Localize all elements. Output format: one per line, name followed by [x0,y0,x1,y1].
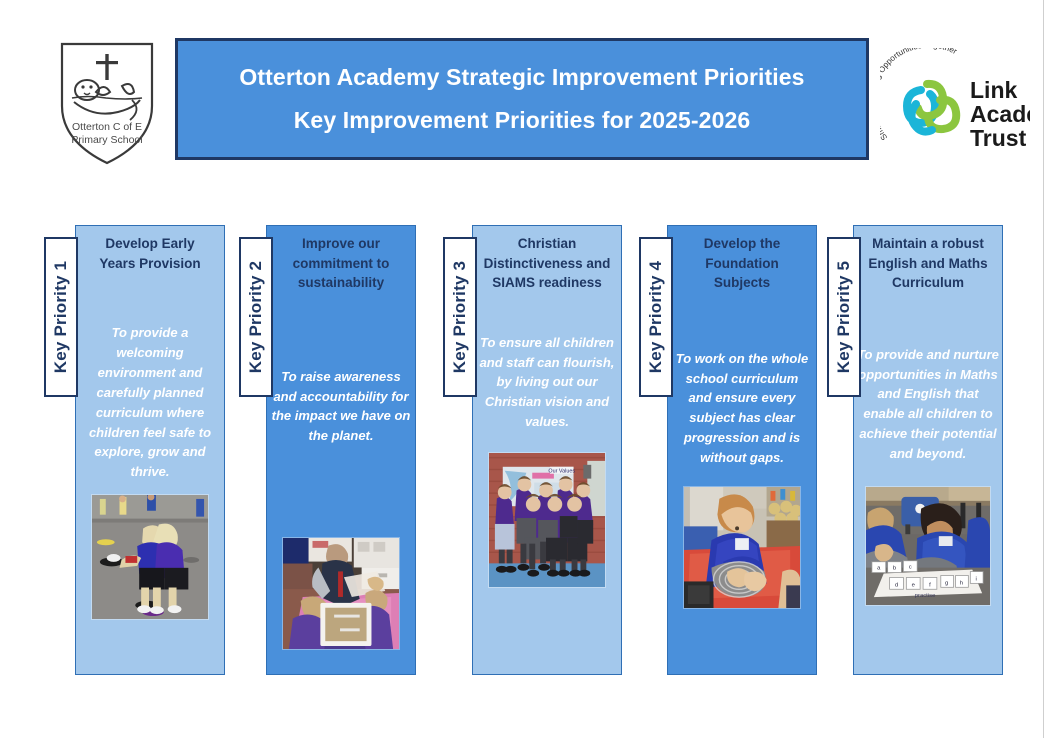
priority-2-body: To raise awareness and accountability fo… [271,367,411,447]
priority-column-3[interactable]: Christian Distinctiveness and SIAMS read… [472,225,622,675]
tab-key-priority-5-label: Key Priority 5 [834,261,854,373]
priority-column-2[interactable]: Improve our commitment to sustainability… [266,225,416,675]
svg-text:Our Values: Our Values [548,469,575,475]
priority-columns: Key Priority 1 Develop Early Years Provi… [0,225,1051,680]
priority-column-1[interactable]: Develop Early Years Provision To provide… [75,225,225,675]
priority-1-body: To provide a welcoming environment and c… [84,323,216,482]
svg-text:d: d [895,582,898,588]
tab-key-priority-2[interactable]: Key Priority 2 [239,237,273,397]
priority-3-heading: Christian Distinctiveness and SIAMS read… [483,234,611,293]
poster-header: Otterton C of E Primary School Otterton … [0,0,1051,190]
tab-key-priority-3[interactable]: Key Priority 3 [443,237,477,397]
priority-2-heading: Improve our commitment to sustainability [277,234,405,293]
school-crest-line-1: Otterton C of E [72,121,142,133]
svg-text:c: c [909,565,912,571]
priority-column-4[interactable]: Develop the Foundation Subjects To work … [667,225,817,675]
tab-key-priority-3-label: Key Priority 3 [450,261,470,373]
priority-4-heading: Develop the Foundation Subjects [678,234,806,293]
tab-key-priority-4-label: Key Priority 4 [646,261,666,373]
priority-2-photo [282,537,400,650]
tab-key-priority-2-label: Key Priority 2 [246,261,266,373]
tab-key-priority-5[interactable]: Key Priority 5 [827,237,861,397]
priority-5-body: To provide and nurture opportunities in … [857,345,999,464]
priority-3-photo: Our Values [488,452,606,588]
priority-5-photo: abc def ghi practise [865,486,991,606]
tab-key-priority-1[interactable]: Key Priority 1 [44,237,78,397]
svg-text:i: i [976,576,977,582]
priority-5-heading: Maintain a robust English and Maths Curr… [864,234,992,293]
otterton-school-crest-icon: Otterton C of E Primary School [44,30,170,170]
trust-word-academy: Academy [970,101,1030,127]
tab-key-priority-4[interactable]: Key Priority 4 [639,237,673,397]
trust-word-trust: Trust [970,125,1027,151]
poster-page: Otterton C of E Primary School Otterton … [0,0,1051,738]
svg-text:h: h [960,580,963,586]
priority-1-heading: Develop Early Years Provision [86,234,214,273]
priority-4-body: To work on the whole school curriculum a… [673,349,811,468]
priority-column-5[interactable]: Maintain a robust English and Maths Curr… [853,225,1003,675]
school-crest-line-2: Primary School [71,134,142,146]
title-banner: Otterton Academy Strategic Improvement P… [175,38,869,160]
poster-title-line-2: Key Improvement Priorities for 2025-2026 [294,108,751,133]
priority-1-photo [91,494,209,620]
poster-title-line-1: Otterton Academy Strategic Improvement P… [239,65,804,90]
priority-3-body: To ensure all children and staff can flo… [476,333,618,432]
priority-4-photo [683,486,801,609]
svg-text:g: g [945,580,948,586]
link-academy-trust-logo-icon: Small Schools Big Opportunities Together… [880,48,1030,160]
svg-text:practise: practise [915,593,936,599]
tab-key-priority-1-label: Key Priority 1 [51,261,71,373]
trust-word-link: Link [970,77,1017,103]
